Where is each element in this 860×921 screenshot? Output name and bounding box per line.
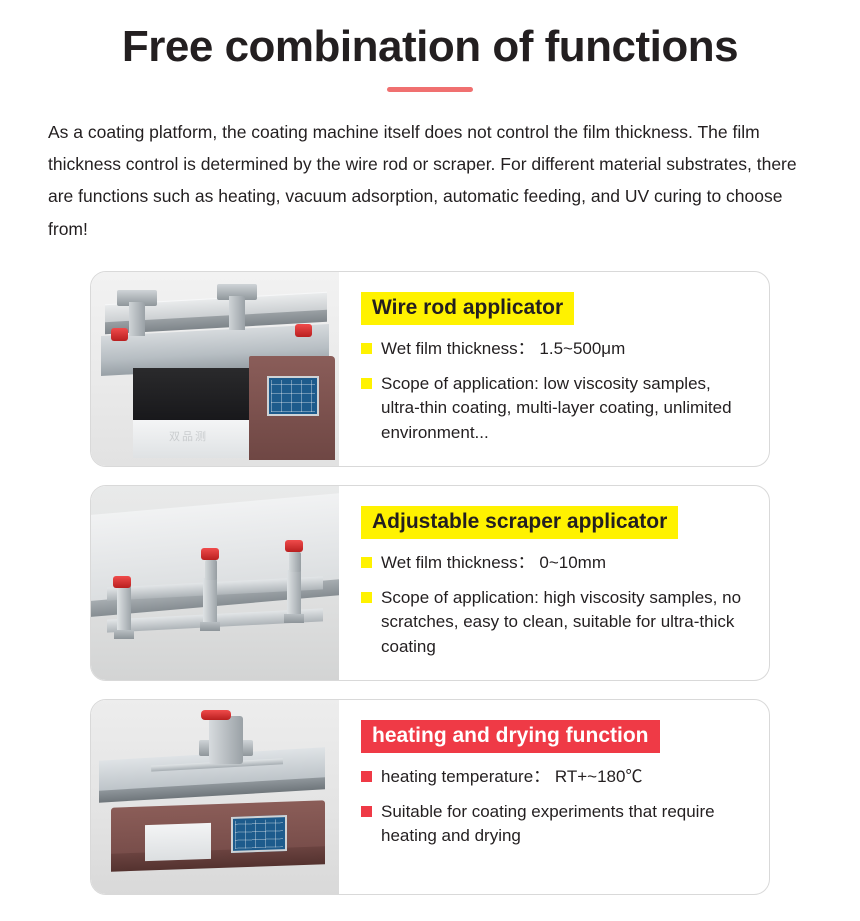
feature-card-adjustable-scraper: Adjustable scraper applicator Wet film t… xyxy=(90,485,770,681)
feature-card-list: 双品测 Wire rod applicator Wet film thickne… xyxy=(90,271,770,895)
card-body: Wire rod applicator Wet film thickness： … xyxy=(339,272,769,466)
photo-shape-red-knob-right xyxy=(285,540,303,552)
photo-shape-red-lever xyxy=(201,710,231,720)
square-bullet-icon xyxy=(361,592,372,603)
square-bullet-icon xyxy=(361,378,372,389)
bullet-item: Suitable for coating experiments that re… xyxy=(361,800,753,848)
square-bullet-icon xyxy=(361,557,372,568)
photo-shape-bolt-right xyxy=(289,552,301,572)
card-body: heating and drying function heating temp… xyxy=(339,700,769,894)
photo-shape-foot-2 xyxy=(200,622,220,631)
photo-shape-screen-grid xyxy=(235,819,283,849)
bullet-text: heating temperature： RT+~180℃ xyxy=(381,765,753,789)
photo-shape-bolt-mid xyxy=(205,560,217,580)
bullet-text: Scope of application: high viscosity sam… xyxy=(381,586,753,658)
adjustable-scraper-applicator-photo xyxy=(91,486,339,680)
bullet-text: Wet film thickness： 1.5~500μm xyxy=(381,337,753,361)
bullet-text: Wet film thickness： 0~10mm xyxy=(381,551,753,575)
photo-shape-leg-1 xyxy=(117,586,131,632)
bullet-item: heating temperature： RT+~180℃ xyxy=(361,765,753,789)
photo-shape-foot-3 xyxy=(284,614,304,623)
photo-shape-post-right xyxy=(229,296,245,330)
photo-shape-red-knob-right xyxy=(295,324,312,337)
photo-shape-leg-3 xyxy=(287,570,301,616)
photo-shape-panel-grid xyxy=(271,380,315,412)
photo-shape-red-knob-mid xyxy=(201,548,219,560)
photo-shape-white-panel xyxy=(145,823,211,861)
card-badge-title: heating and drying function xyxy=(361,720,660,753)
bullet-item: Wet film thickness： 1.5~500μm xyxy=(361,337,753,361)
feature-card-heating-drying: heating and drying function heating temp… xyxy=(90,699,770,895)
document-page: Free combination of functions As a coati… xyxy=(0,0,860,921)
bullet-item: Wet film thickness： 0~10mm xyxy=(361,551,753,575)
wire-rod-applicator-machine-photo: 双品测 xyxy=(91,272,339,466)
photo-shape-red-knob-left xyxy=(113,576,131,588)
square-bullet-icon xyxy=(361,343,372,354)
photo-shape-dark-substrate xyxy=(133,368,251,424)
photo-shape-foot-1 xyxy=(114,630,134,639)
bullet-text: Scope of application: low viscosity samp… xyxy=(381,372,753,444)
bullet-item: Scope of application: low viscosity samp… xyxy=(361,372,753,444)
card-bullet-list: heating temperature： RT+~180℃ Suitable f… xyxy=(361,765,753,848)
bullet-item: Scope of application: high viscosity sam… xyxy=(361,586,753,658)
square-bullet-icon xyxy=(361,771,372,782)
photo-watermark: 双品测 xyxy=(169,428,208,444)
bullet-text: Suitable for coating experiments that re… xyxy=(381,800,753,848)
card-body: Adjustable scraper applicator Wet film t… xyxy=(339,486,769,680)
heating-drying-machine-photo xyxy=(91,700,339,894)
card-bullet-list: Wet film thickness： 1.5~500μm Scope of a… xyxy=(361,337,753,445)
card-badge-title: Adjustable scraper applicator xyxy=(361,506,678,539)
card-bullet-list: Wet film thickness： 0~10mm Scope of appl… xyxy=(361,551,753,659)
page-title: Free combination of functions xyxy=(0,0,860,73)
photo-shape-carriage-tower xyxy=(209,716,243,764)
title-underline-accent xyxy=(387,87,473,92)
feature-card-wire-rod: 双品测 Wire rod applicator Wet film thickne… xyxy=(90,271,770,467)
photo-shape-leg-2 xyxy=(203,578,217,624)
square-bullet-icon xyxy=(361,806,372,817)
intro-paragraph: As a coating platform, the coating machi… xyxy=(48,116,812,246)
photo-shape-red-knob-left xyxy=(111,328,128,341)
photo-shape-post-left xyxy=(129,302,145,336)
card-badge-title: Wire rod applicator xyxy=(361,292,574,325)
